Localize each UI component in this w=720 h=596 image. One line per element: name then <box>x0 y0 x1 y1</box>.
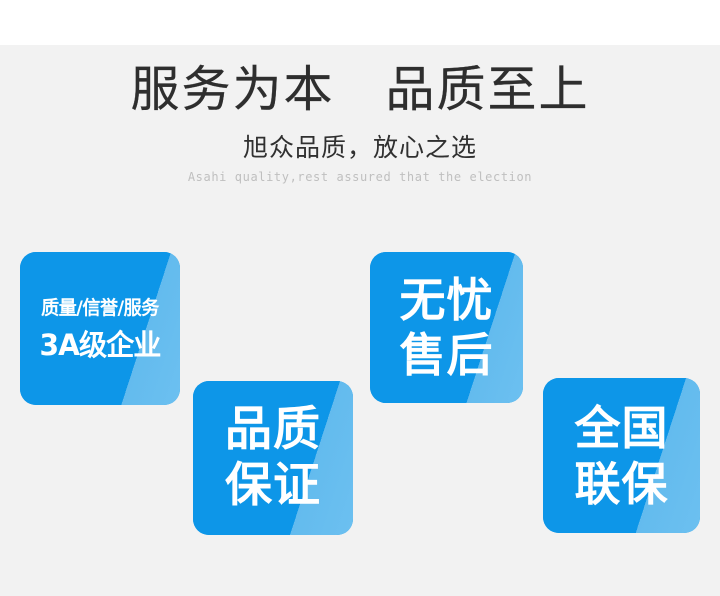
badge-label-secondary: 保证 <box>193 458 353 514</box>
badge-3a-enterprise: 质量/信誉/服务 3A级企业 <box>20 252 180 405</box>
badge-quality-assurance: 品质 保证 <box>193 381 353 535</box>
page-title: 服务为本 品质至上 <box>0 60 720 120</box>
badge-text-group: 无忧 售后 <box>370 273 523 383</box>
badge-label-secondary: 联保 <box>543 456 700 512</box>
subtitle-english: Asahi quality,rest assured that the elec… <box>0 168 720 186</box>
badge-national-warranty: 全国 联保 <box>543 378 700 533</box>
badge-text-group: 全国 联保 <box>543 400 700 512</box>
badge-label-primary: 质量/信誉/服务 <box>24 293 176 323</box>
badge-text-group: 质量/信誉/服务 3A级企业 <box>20 293 180 365</box>
promo-banner: 服务为本 品质至上 旭众品质，放心之选 Asahi quality,rest a… <box>0 0 720 596</box>
badge-label-primary: 品质 <box>193 402 353 458</box>
badge-label-primary: 全国 <box>543 400 700 456</box>
badge-worry-free-after-sales: 无忧 售后 <box>370 252 523 403</box>
badge-text-group: 品质 保证 <box>193 402 353 514</box>
badge-label-secondary: 售后 <box>370 328 523 383</box>
heading-block: 服务为本 品质至上 旭众品质，放心之选 Asahi quality,rest a… <box>0 60 720 186</box>
subtitle-chinese: 旭众品质，放心之选 <box>0 132 720 164</box>
badge-label-primary: 无忧 <box>370 273 523 328</box>
top-white-band <box>0 0 720 45</box>
badge-label-secondary: 3A级企业 <box>22 325 177 365</box>
